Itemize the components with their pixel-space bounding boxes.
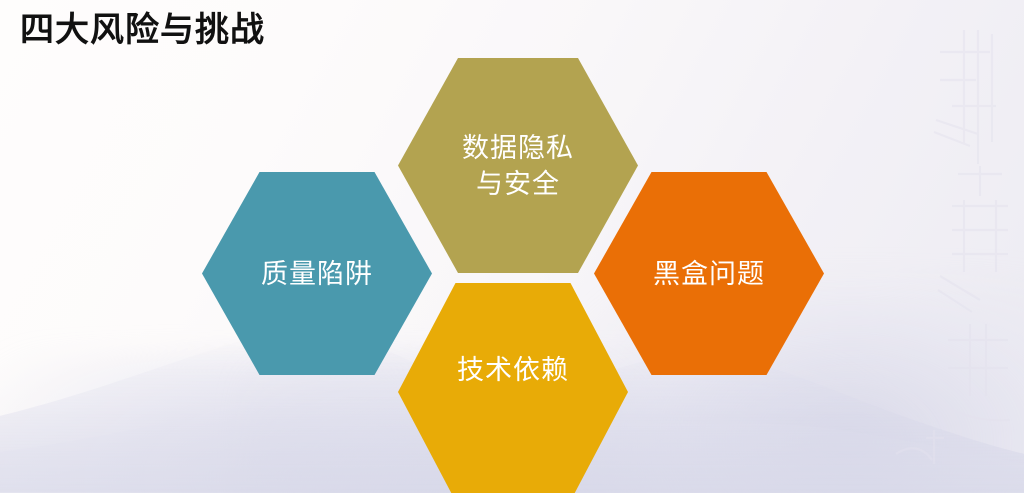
- hexagon-cluster: 数据隐私 与安全 质量陷阱 黑盒问题 技术依赖: [0, 0, 1024, 493]
- hexagon-label: 质量陷阱: [261, 256, 373, 292]
- slide-canvas: 四大风险与挑战 数据隐私 与安全 质量陷阱 黑盒问题 技术依赖: [0, 0, 1024, 493]
- hexagon-technology-dependence[interactable]: 技术依赖: [398, 283, 628, 493]
- hexagon-label: 数据隐私 与安全: [462, 130, 574, 202]
- hexagon-label: 技术依赖: [457, 352, 569, 388]
- hexagon-black-box-problem[interactable]: 黑盒问题: [594, 172, 824, 375]
- hexagon-label: 黑盒问题: [653, 256, 765, 292]
- hexagon-quality-trap[interactable]: 质量陷阱: [202, 172, 432, 375]
- hexagon-data-privacy-security[interactable]: 数据隐私 与安全: [398, 58, 638, 273]
